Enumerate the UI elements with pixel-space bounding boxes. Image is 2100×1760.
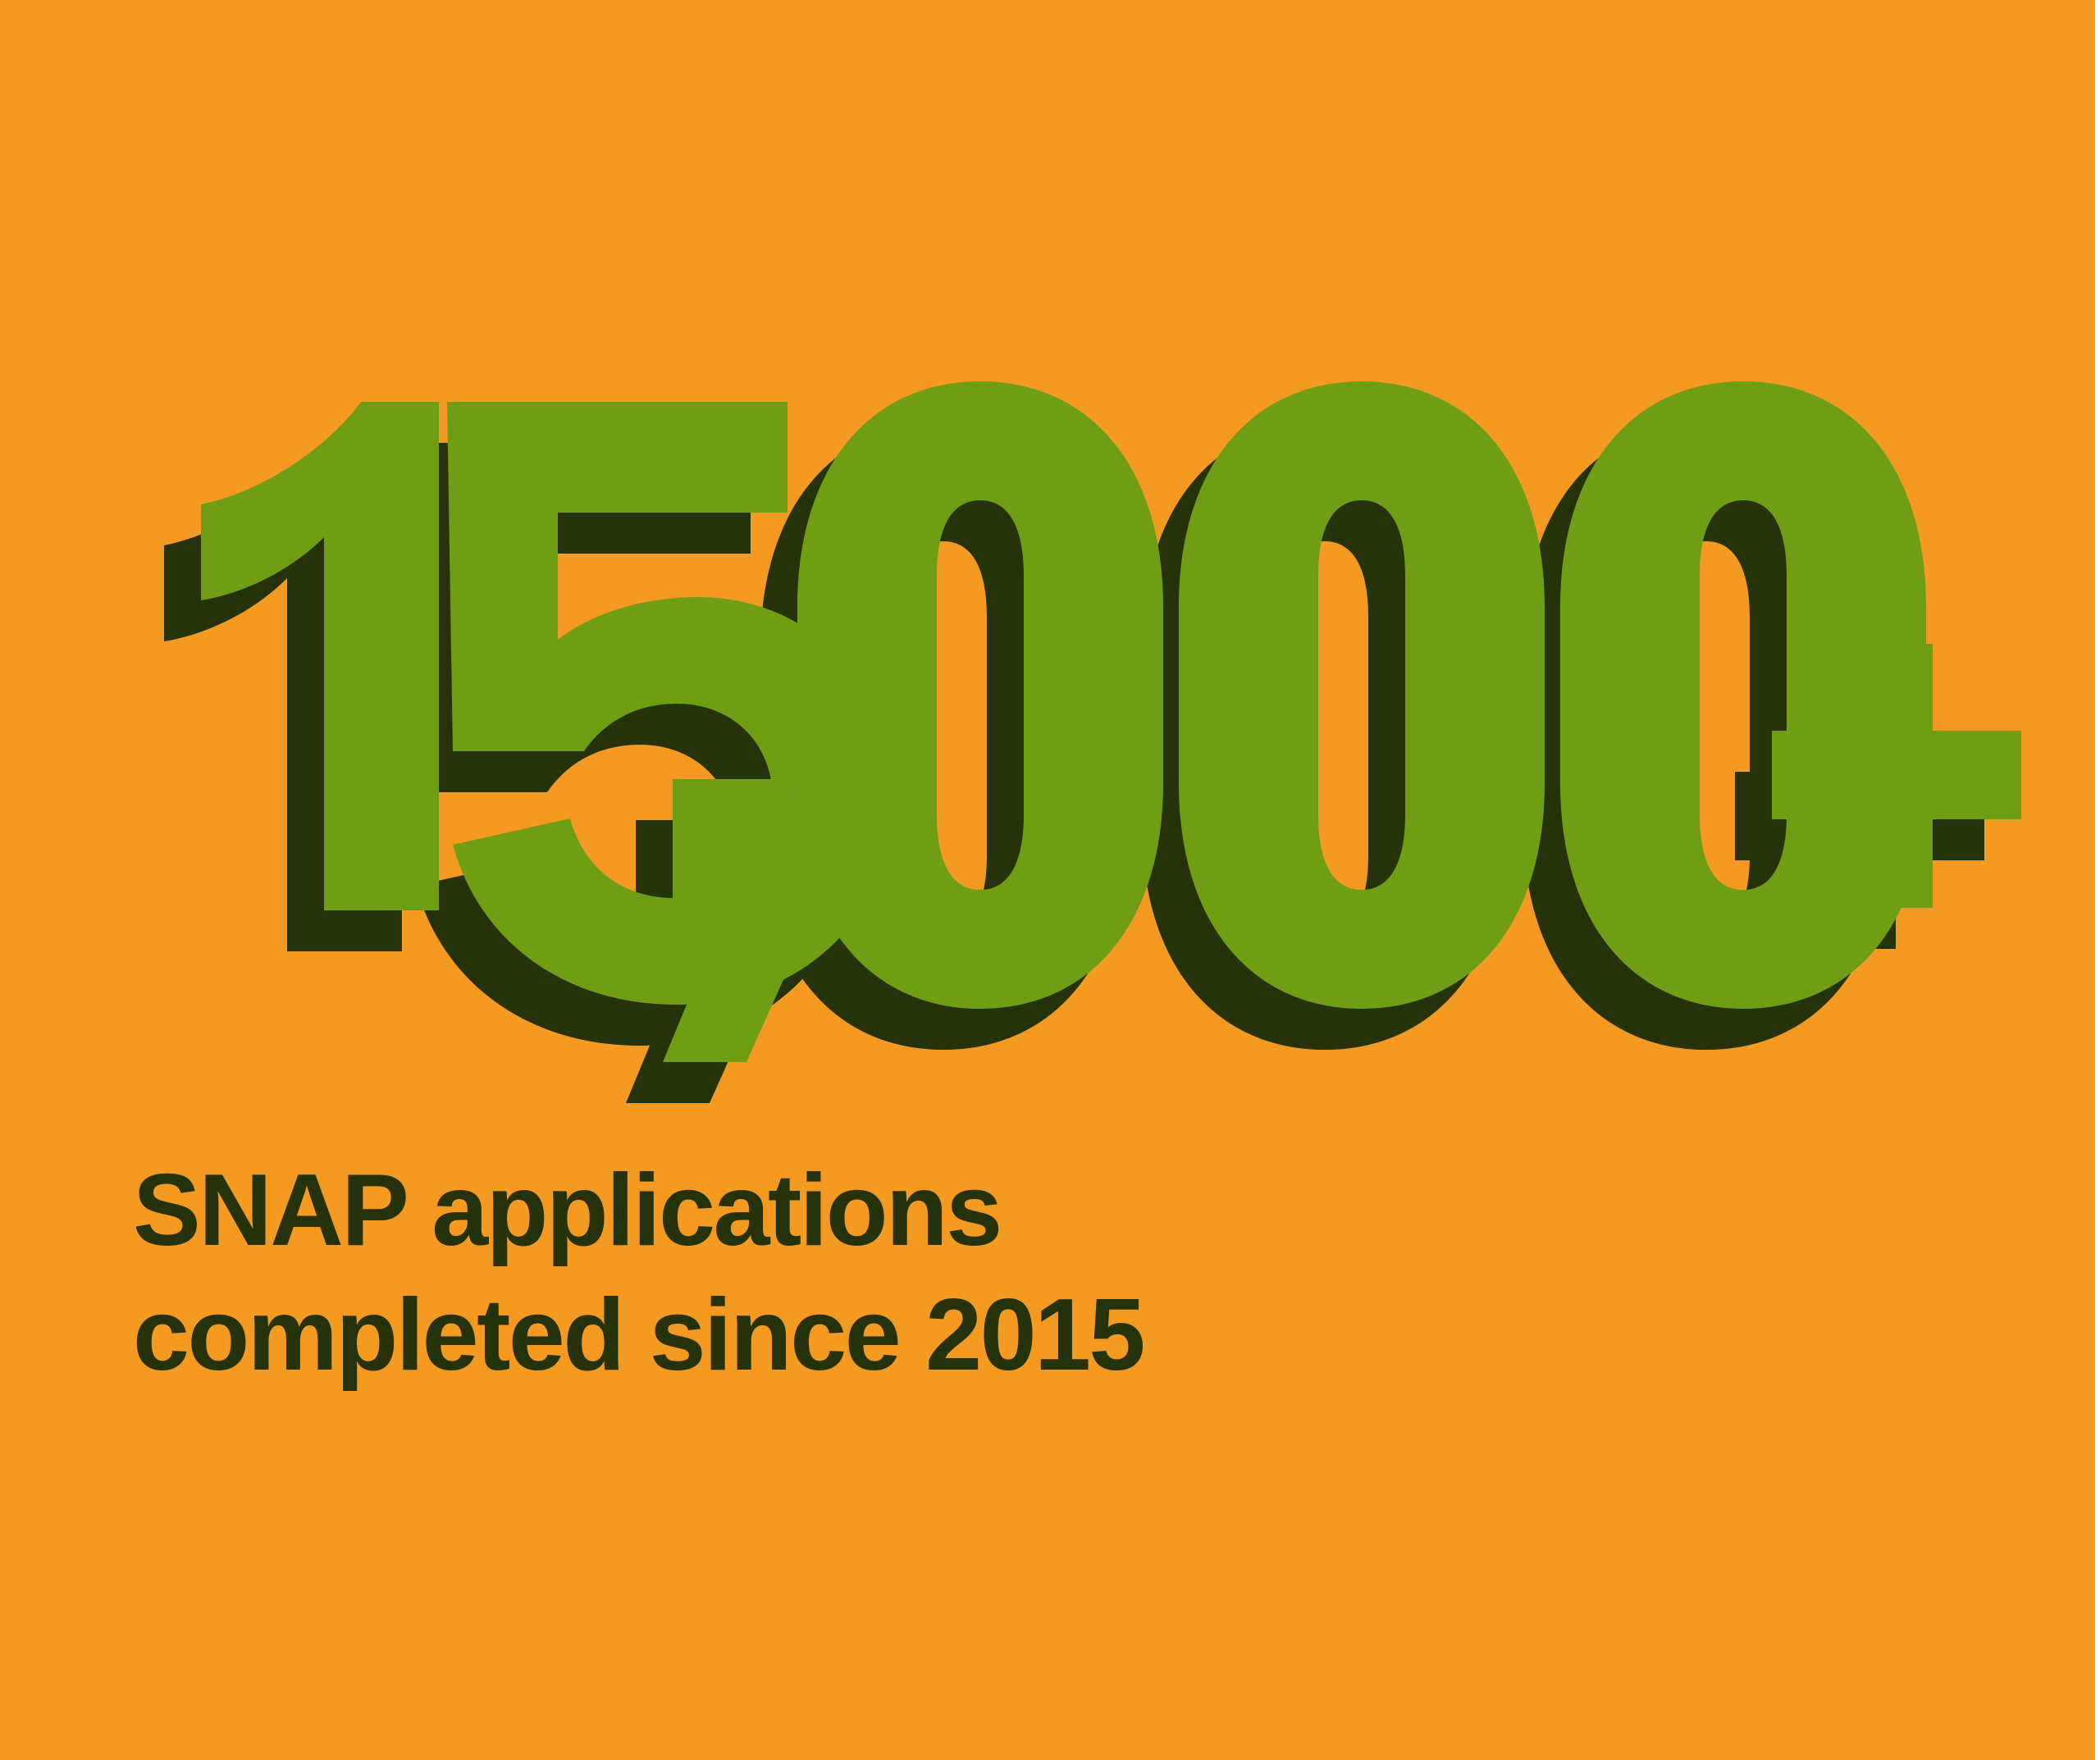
digit-0-a — [797, 381, 1163, 1009]
right-edge-strip — [2095, 0, 2100, 1760]
digit-0-b — [1179, 381, 1545, 1009]
stat-card: 15,000+ — [0, 0, 2095, 1760]
stat-value-figure: 15,000+ — [123, 353, 2034, 1033]
caption-line-2: completed since 2015 — [133, 1273, 1774, 1398]
thousands-comma — [663, 779, 800, 1062]
screenshot-root: 15,000+ — [0, 0, 2100, 1760]
caption-line-1: SNAP applications — [133, 1148, 1774, 1273]
stat-caption: SNAP applications completed since 2015 — [133, 1148, 1774, 1398]
stat-value-svg — [123, 353, 2034, 1033]
